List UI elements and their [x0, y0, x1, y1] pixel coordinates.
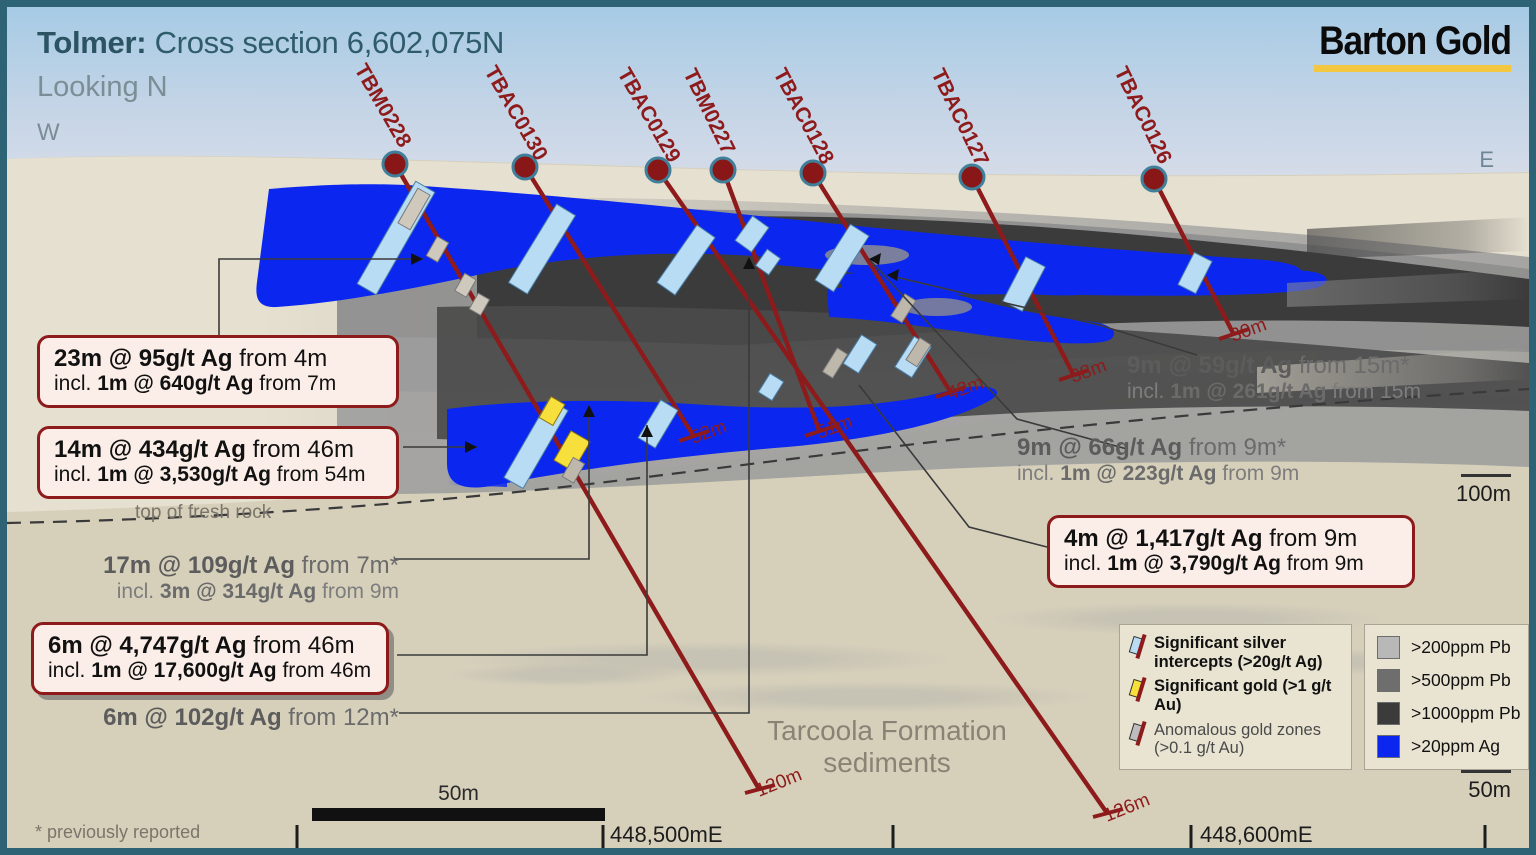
drillhole-label-TBM0228: TBM0228 [350, 60, 416, 152]
callout-7-l1-bold: 4m @ 1,417g/t Ag [1064, 525, 1263, 552]
anomalous-gold-icon [1130, 721, 1147, 746]
callout-6-l2-pre: incl. [1017, 462, 1060, 485]
callout-text-6m-102: 6m @ 102g/t Ag from 12m* [59, 704, 399, 732]
eoh-label-TBAC0130: 52m [688, 416, 730, 448]
callout-1-l2-rest: from 54m [271, 463, 366, 486]
swatch-pb1000 [1377, 702, 1400, 725]
callout-2-l2-rest: from 9m [316, 580, 399, 603]
callout-box-23m: 23m @ 95g/t Ag from 4m incl. 1m @ 640g/t… [37, 335, 399, 408]
swatch-ag20 [1377, 735, 1400, 758]
vertical-scale-50m: 50m [1468, 777, 1511, 803]
callout-1-l2-bold: 1m @ 3,530g/t Ag [97, 463, 271, 486]
callout-5-l2-pre: incl. [1127, 380, 1170, 403]
page-title: Tolmer: Cross section 6,602,075N [37, 25, 504, 61]
callout-0-l2-rest: from 7m [253, 372, 336, 395]
callout-text-17m: 17m @ 109g/t Ag from 7m* incl. 3m @ 314g… [59, 552, 399, 604]
legend-intercepts: Significant silver intercepts (>20g/t Ag… [1119, 624, 1352, 770]
callout-7-l2-pre: incl. [1064, 552, 1107, 575]
callout-box-6m-4747: 6m @ 4,747g/t Ag from 46m incl. 1m @ 17,… [31, 622, 389, 695]
brand-logo-underline [1314, 65, 1511, 72]
legend-geochem: >200ppm Pb >500ppm Pb >1000ppm Pb >20ppm… [1364, 624, 1529, 770]
scale-bar: 50m [312, 782, 605, 821]
legend-label-silver: Significant silver intercepts (>20g/t Ag… [1154, 634, 1341, 671]
callout-text-9m-59: 9m @ 59g/t Ag from 15m* incl. 1m @ 261g/… [1127, 352, 1523, 404]
callout-6-l1-rest: from 9m* [1182, 434, 1286, 461]
brand-logo-text: Barton Gold [1319, 21, 1511, 61]
callout-1-l1-rest: from 46m [246, 436, 354, 463]
scale-bar-rect [312, 808, 605, 821]
callout-0-l2-bold: 1m @ 640g/t Ag [97, 372, 253, 395]
vertical-scale-100m-label: 100m [1456, 481, 1511, 506]
callout-4-l1-rest: from 12m* [282, 704, 399, 731]
legend-geochem-label-0: >200ppm Pb [1411, 637, 1511, 658]
formation-label-line1: Tarcoola Formation [767, 715, 1007, 747]
legend-geochem-row-2: >1000ppm Pb [1377, 702, 1518, 725]
swatch-pb200 [1377, 636, 1400, 659]
callout-2-l2-pre: incl. [117, 580, 160, 603]
callout-5-l2-rest: from 15m [1326, 380, 1421, 403]
callout-6-l1-bold: 9m @ 66g/t Ag [1017, 434, 1182, 461]
callout-2-l2-bold: 3m @ 314g/t Ag [160, 580, 316, 603]
page-title-rest: Cross section 6,602,075N [146, 25, 504, 60]
callout-7-l1-rest: from 9m [1263, 525, 1358, 552]
formation-label: Tarcoola Formation sediments [767, 715, 1007, 779]
legend-geochem-label-3: >20ppm Ag [1411, 736, 1500, 757]
callout-3-l1-bold: 6m @ 4,747g/t Ag [48, 632, 247, 659]
callout-box-4m-1417: 4m @ 1,417g/t Ag from 9m incl. 1m @ 3,79… [1047, 515, 1415, 588]
callout-7-l2-bold: 1m @ 3,790g/t Ag [1107, 552, 1281, 575]
footnote-previously-reported: * previously reported [35, 822, 200, 843]
eoh-label-TBAC0129: 126m [1101, 789, 1153, 826]
legend-geochem-label-1: >500ppm Pb [1411, 670, 1511, 691]
legend-geochem-label-2: >1000ppm Pb [1411, 703, 1520, 724]
subtitle: Looking N [37, 71, 168, 104]
west-label: W [37, 119, 60, 147]
callout-6-l2-rest: from 9m [1216, 462, 1299, 485]
easting-label-left: 448,500mE [610, 822, 723, 848]
callout-5-l1-rest: from 15m* [1292, 352, 1409, 379]
drillhole-label-TBAC0130: TBAC0130 [480, 62, 552, 164]
vertical-scale-100m: 100m [1456, 481, 1511, 507]
legend-row-gold: Significant gold (>1 g/t Au) [1130, 677, 1341, 714]
vertical-scale-100m-tick [1461, 474, 1511, 477]
legend-row-silver: Significant silver intercepts (>20g/t Ag… [1130, 634, 1341, 671]
legend-geochem-row-1: >500ppm Pb [1377, 669, 1518, 692]
legend-label-anomalous: Anomalous gold zones (>0.1 g/t Au) [1154, 721, 1341, 758]
callout-3-l2-bold: 1m @ 17,600g/t Ag [91, 659, 276, 682]
eoh-label-TBAC0126: 30m [1228, 314, 1270, 346]
cross-section-figure: TBM0228 TBAC0130 TBAC0129 TBM0227 TBAC01… [0, 0, 1536, 855]
vertical-scale-50m-tick [1461, 770, 1511, 773]
callout-3-l2-rest: from 46m [277, 659, 372, 682]
swatch-pb500 [1377, 669, 1400, 692]
callout-7-l2-rest: from 9m [1281, 552, 1364, 575]
east-label: E [1479, 147, 1494, 173]
callout-3-l1-rest: from 46m [247, 632, 355, 659]
callout-3-l2-pre: incl. [48, 659, 91, 682]
drillhole-label-TBAC0127: TBAC0127 [927, 65, 994, 169]
legend-geochem-row-0: >200ppm Pb [1377, 636, 1518, 659]
page-title-bold: Tolmer: [37, 25, 146, 60]
drillhole-label-TBAC0129: TBAC0129 [613, 64, 685, 166]
eoh-label-TBAC0128: 42m [945, 372, 987, 404]
drillhole-label-TBM0227: TBM0227 [679, 65, 740, 158]
top-of-fresh-rock-label: top of fresh rock [135, 502, 271, 524]
easting-label-right: 448,600mE [1200, 822, 1313, 848]
legend-row-anomalous: Anomalous gold zones (>0.1 g/t Au) [1130, 721, 1341, 758]
legend-label-gold: Significant gold (>1 g/t Au) [1154, 677, 1341, 714]
callout-1-l1-bold: 14m @ 434g/t Ag [54, 436, 246, 463]
eoh-label-TBM0227: 51m [814, 411, 856, 443]
legend-geochem-row-3: >20ppm Ag [1377, 735, 1518, 758]
brand-logo: Barton Gold [1293, 21, 1511, 72]
callout-0-l2-pre: incl. [54, 372, 97, 395]
gold-intercept-icon [1130, 677, 1147, 702]
callout-0-l1-rest: from 4m [233, 345, 328, 372]
formation-label-line2: sediments [767, 747, 1007, 779]
callout-5-l1-bold: 9m @ 59g/t Ag [1127, 352, 1292, 379]
callout-text-9m-66: 9m @ 66g/t Ag from 9m* incl. 1m @ 223g/t… [1017, 434, 1417, 486]
drillhole-label-TBAC0128: TBAC0128 [769, 65, 839, 169]
callout-4-l1-bold: 6m @ 102g/t Ag [103, 704, 282, 731]
callout-1-l2-pre: incl. [54, 463, 97, 486]
scale-bar-label: 50m [312, 782, 605, 806]
callout-2-l1-rest: from 7m* [295, 552, 399, 579]
vertical-scale-50m-label: 50m [1468, 777, 1511, 802]
eoh-label-TBAC0127: 38m [1068, 355, 1110, 387]
callout-2-l1-bold: 17m @ 109g/t Ag [103, 552, 295, 579]
callout-6-l2-bold: 1m @ 223g/t Ag [1060, 462, 1216, 485]
drillhole-label-TBAC0126: TBAC0126 [1110, 63, 1177, 167]
callout-5-l2-bold: 1m @ 261g/t Ag [1170, 380, 1326, 403]
silver-intercept-icon [1130, 634, 1147, 659]
callout-0-l1-bold: 23m @ 95g/t Ag [54, 345, 233, 372]
callout-box-14m: 14m @ 434g/t Ag from 46m incl. 1m @ 3,53… [37, 426, 399, 499]
